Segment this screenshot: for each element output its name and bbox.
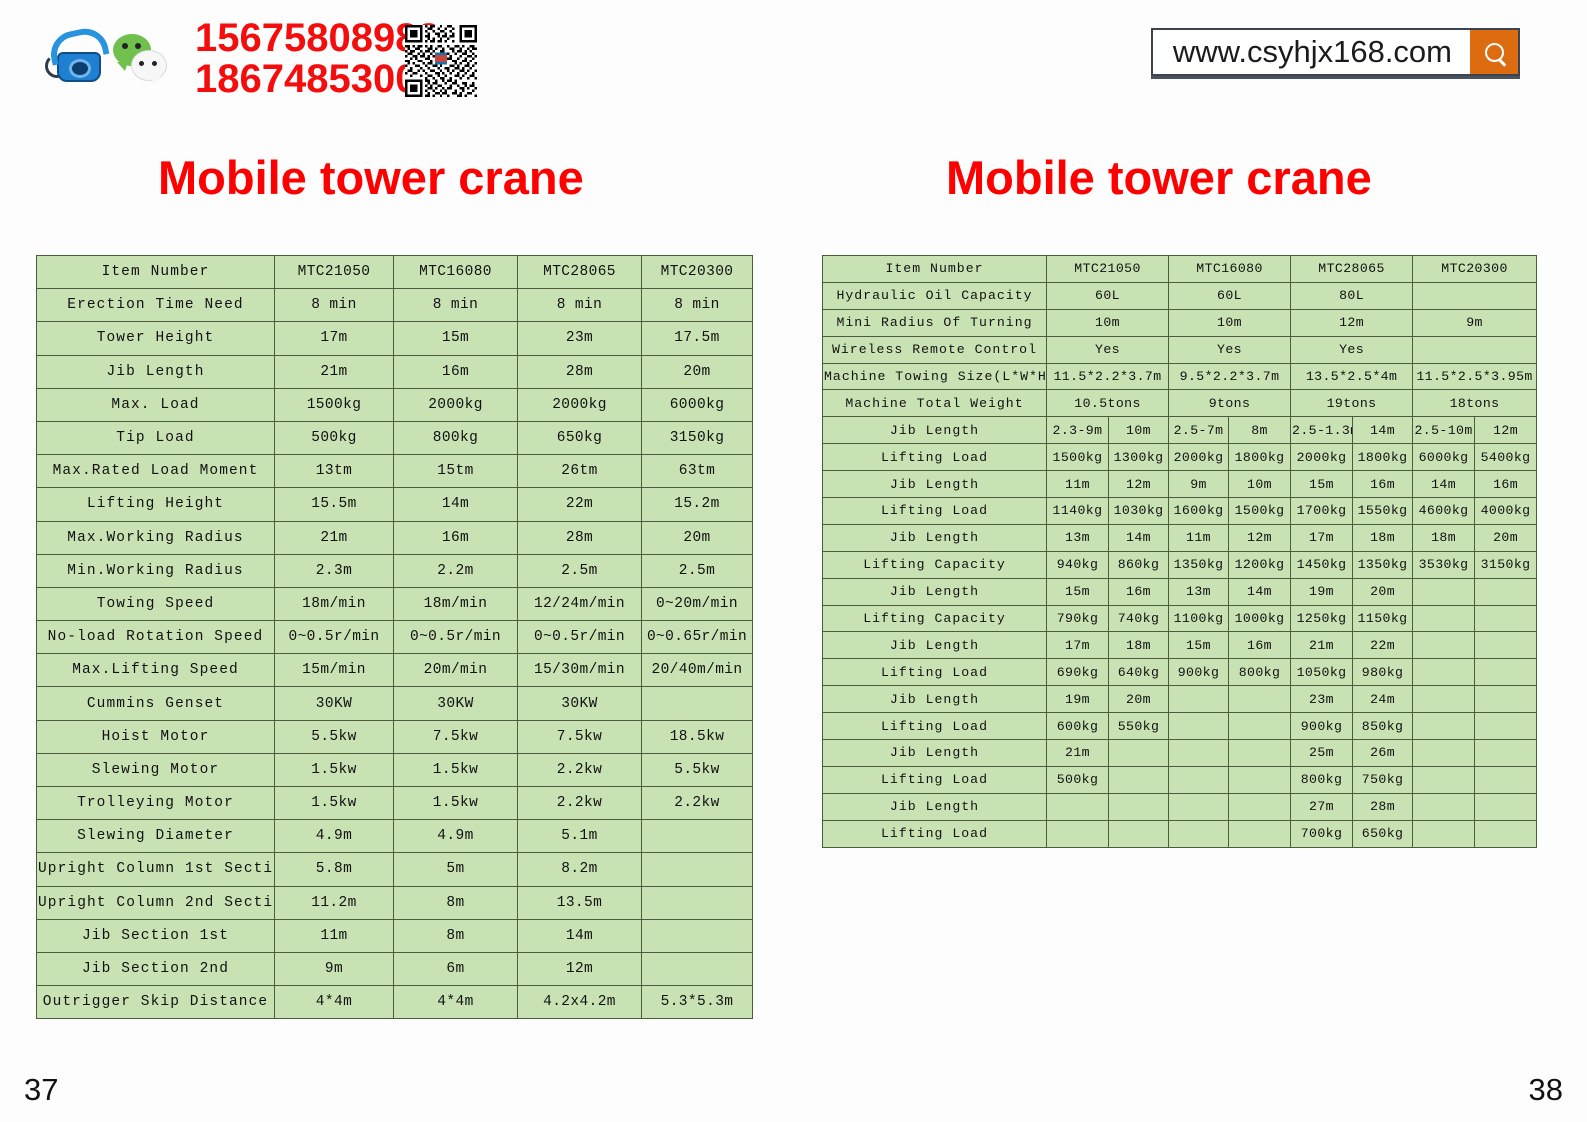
table-cell: 25m <box>1291 740 1353 767</box>
table-cell: 15m <box>1169 632 1229 659</box>
table-cell: 1050kg <box>1291 659 1353 686</box>
table-cell <box>1109 793 1169 820</box>
table-row: Jib Section 2nd9m6m12m <box>37 952 753 985</box>
table-cell: 23m <box>518 322 642 355</box>
table-cell: 790kg <box>1047 605 1109 632</box>
table-cell: 9.5*2.2*3.7m <box>1169 363 1291 390</box>
table-cell: 6m <box>394 952 518 985</box>
row-label: Jib Length <box>823 471 1047 498</box>
table-cell <box>1413 336 1537 363</box>
page-title-left: Mobile tower crane <box>158 150 584 205</box>
table-cell <box>1169 713 1229 740</box>
table-cell: 17.5m <box>642 322 753 355</box>
row-label: Jib Length <box>823 740 1047 767</box>
table-cell: 24m <box>1353 686 1413 713</box>
table-cell: 2.2kw <box>518 753 642 786</box>
table-cell: 19m <box>1047 686 1109 713</box>
table-cell: 13.5*2.5*4m <box>1291 363 1413 390</box>
table-cell: 1030kg <box>1109 498 1169 525</box>
table-row: Max. Load1500kg2000kg2000kg6000kg <box>37 388 753 421</box>
row-label: Tip Load <box>37 421 275 454</box>
table-cell: 4600kg <box>1413 498 1475 525</box>
table-cell: 750kg <box>1353 766 1413 793</box>
row-label: Jib Length <box>823 793 1047 820</box>
table-cell: 2.5-7m <box>1169 417 1229 444</box>
table-cell: 800kg <box>1291 766 1353 793</box>
table-cell <box>642 853 753 886</box>
table-cell <box>1109 766 1169 793</box>
table-cell: 18tons <box>1413 390 1537 417</box>
table-cell <box>1047 793 1109 820</box>
table-cell: 19tons <box>1291 390 1413 417</box>
table-cell: 3150kg <box>1475 551 1537 578</box>
table-cell: 12m <box>1229 524 1291 551</box>
table-cell: 5.5kw <box>642 753 753 786</box>
table-cell: 15m <box>394 322 518 355</box>
row-label: Slewing Motor <box>37 753 275 786</box>
page-number-left: 37 <box>24 1072 58 1108</box>
row-label: Hoist Motor <box>37 720 275 753</box>
row-label: Upright Column 1st Section <box>37 853 275 886</box>
table-cell <box>1229 766 1291 793</box>
table-cell: 14m <box>1109 524 1169 551</box>
row-label: Lifting Capacity <box>823 551 1047 578</box>
table-cell: 8 min <box>275 289 394 322</box>
table-cell: 1500kg <box>275 388 394 421</box>
row-label: Jib Length <box>823 686 1047 713</box>
row-label: Mini Radius Of Turning <box>823 309 1047 336</box>
table-cell: 15.2m <box>642 488 753 521</box>
table-cell: 16m <box>1229 632 1291 659</box>
table-row: Lifting Load1140kg1030kg1600kg1500kg1700… <box>823 498 1537 525</box>
table-cell: 9m <box>275 952 394 985</box>
table-cell: 0~0.5r/min <box>275 621 394 654</box>
search-button[interactable] <box>1470 30 1518 74</box>
table-cell: 14m <box>394 488 518 521</box>
row-label: Upright Column 2nd Section <box>37 886 275 919</box>
table-cell: 9m <box>1413 309 1537 336</box>
table-cell <box>1475 766 1537 793</box>
phone-number-1: 15675808988 <box>195 18 440 59</box>
table-cell: 15/30m/min <box>518 654 642 687</box>
table-cell: 10m <box>1169 309 1291 336</box>
table-cell: 10.5tons <box>1047 390 1169 417</box>
row-label: Hydraulic Oil Capacity <box>823 282 1047 309</box>
table-cell: 20m/min <box>394 654 518 687</box>
website-url-text: www.csyhjx168.com <box>1153 30 1470 74</box>
row-label: Tower Height <box>37 322 275 355</box>
table-cell: 18m <box>1413 524 1475 551</box>
wechat-icon <box>113 30 171 88</box>
qr-code-icon <box>405 25 477 97</box>
table-row: Lifting Load600kg550kg900kg850kg <box>823 713 1537 740</box>
table-cell <box>1475 659 1537 686</box>
table-cell: 10m <box>1109 417 1169 444</box>
table-cell: 8 min <box>642 289 753 322</box>
table-row: Max.Lifting Speed15m/min20m/min15/30m/mi… <box>37 654 753 687</box>
table-cell: 11.2m <box>275 886 394 919</box>
table-cell: 6000kg <box>1413 444 1475 471</box>
table-cell: 5.3*5.3m <box>642 986 753 1019</box>
table-cell: 690kg <box>1047 659 1109 686</box>
table-cell: 12m <box>518 952 642 985</box>
table-cell: 980kg <box>1353 659 1413 686</box>
table-cell: Yes <box>1169 336 1291 363</box>
table-row: Jib Length17m18m15m16m21m22m <box>823 632 1537 659</box>
table-cell: 3530kg <box>1413 551 1475 578</box>
table-cell: 500kg <box>1047 766 1109 793</box>
table-row: Jib Length19m20m23m24m <box>823 686 1537 713</box>
table-cell: 2.3-9m <box>1047 417 1109 444</box>
column-header: MTC21050 <box>1047 256 1169 283</box>
search-icon <box>1485 43 1504 62</box>
column-header: MTC21050 <box>275 256 394 289</box>
table-cell: 80L <box>1291 282 1413 309</box>
table-row: Slewing Diameter4.9m4.9m5.1m <box>37 820 753 853</box>
column-header: MTC16080 <box>394 256 518 289</box>
table-cell: 650kg <box>518 421 642 454</box>
column-header: MTC20300 <box>642 256 753 289</box>
column-header: MTC16080 <box>1169 256 1291 283</box>
table-row: Lifting Load1500kg1300kg2000kg1800kg2000… <box>823 444 1537 471</box>
table-cell: 20m <box>1475 524 1537 551</box>
table-row: Tip Load500kg800kg650kg3150kg <box>37 421 753 454</box>
table-cell: 16m <box>1353 471 1413 498</box>
table-cell: 5.5kw <box>275 720 394 753</box>
table-cell <box>1413 632 1475 659</box>
table-row: Jib Section 1st11m8m14m <box>37 919 753 952</box>
table-cell: 2.5-10m <box>1413 417 1475 444</box>
table-cell: 4.9m <box>394 820 518 853</box>
table-row: Cummins Genset30KW30KW30KW <box>37 687 753 720</box>
table-cell: 6000kg <box>642 388 753 421</box>
table-cell: 1250kg <box>1291 605 1353 632</box>
column-header: MTC28065 <box>1291 256 1413 283</box>
table-row: Erection Time Need8 min8 min8 min8 min <box>37 289 753 322</box>
table-cell: 1600kg <box>1169 498 1229 525</box>
table-cell <box>1413 686 1475 713</box>
row-label: Jib Length <box>37 355 275 388</box>
table-cell: 650kg <box>1353 820 1413 847</box>
table-cell: 2.2m <box>394 554 518 587</box>
row-label: Cummins Genset <box>37 687 275 720</box>
table-cell <box>642 820 753 853</box>
table-cell: 550kg <box>1109 713 1169 740</box>
table-cell: 28m <box>518 521 642 554</box>
table-cell: Yes <box>1291 336 1413 363</box>
table-row: Slewing Motor1.5kw1.5kw2.2kw5.5kw <box>37 753 753 786</box>
table-cell: 1800kg <box>1353 444 1413 471</box>
table-cell: 14m <box>518 919 642 952</box>
table-cell <box>642 919 753 952</box>
table-cell: 500kg <box>275 421 394 454</box>
table-cell: 1140kg <box>1047 498 1109 525</box>
table-cell: 8m <box>394 919 518 952</box>
table-cell: 1000kg <box>1229 605 1291 632</box>
column-header: MTC28065 <box>518 256 642 289</box>
table-cell: 13m <box>1169 578 1229 605</box>
table-cell: 1100kg <box>1169 605 1229 632</box>
table-row: Hydraulic Oil Capacity60L60L80L <box>823 282 1537 309</box>
table-cell: 18.5kw <box>642 720 753 753</box>
row-label: Jib Length <box>823 632 1047 659</box>
table-cell: 1150kg <box>1353 605 1413 632</box>
table-cell <box>1229 713 1291 740</box>
table-cell: 1700kg <box>1291 498 1353 525</box>
table-row: Mini Radius Of Turning10m10m12m9m <box>823 309 1537 336</box>
website-search-bar[interactable]: www.csyhjx168.com <box>1151 28 1520 76</box>
table-row: Lifting Load700kg650kg <box>823 820 1537 847</box>
table-cell <box>1475 740 1537 767</box>
table-cell: 0~0.5r/min <box>518 621 642 654</box>
table-cell: 13.5m <box>518 886 642 919</box>
table-row: Lifting Load690kg640kg900kg800kg1050kg98… <box>823 659 1537 686</box>
table-cell: 8.2m <box>518 853 642 886</box>
table-cell: 1350kg <box>1169 551 1229 578</box>
table-row: Wireless Remote ControlYesYesYes <box>823 336 1537 363</box>
table-row: Machine Towing Size(L*W*H)11.5*2.2*3.7m9… <box>823 363 1537 390</box>
table-cell <box>1229 686 1291 713</box>
table-cell: 7.5kw <box>394 720 518 753</box>
table-cell: Yes <box>1047 336 1169 363</box>
row-label: Lifting Capacity <box>823 605 1047 632</box>
table-cell <box>1169 766 1229 793</box>
table-cell <box>1413 605 1475 632</box>
table-row: Lifting Capacity940kg860kg1350kg1200kg14… <box>823 551 1537 578</box>
table-cell: 18m <box>1109 632 1169 659</box>
table-cell <box>1475 605 1537 632</box>
table-cell: 14m <box>1229 578 1291 605</box>
table-cell: 5.1m <box>518 820 642 853</box>
table-row: Tower Height17m15m23m17.5m <box>37 322 753 355</box>
row-label: Item Number <box>823 256 1047 283</box>
table-cell: 19m <box>1291 578 1353 605</box>
table-cell: 1300kg <box>1109 444 1169 471</box>
table-cell <box>1229 820 1291 847</box>
table-cell: 10m <box>1047 309 1169 336</box>
table-cell: 20m <box>1109 686 1169 713</box>
table-cell: 0~20m/min <box>642 587 753 620</box>
table-cell: 11.5*2.5*3.95m <box>1413 363 1537 390</box>
table-cell: 28m <box>1353 793 1413 820</box>
row-label: Wireless Remote Control <box>823 336 1047 363</box>
table-cell: 5400kg <box>1475 444 1537 471</box>
table-cell: 30KW <box>275 687 394 720</box>
row-label: Min.Working Radius <box>37 554 275 587</box>
table-row: Jib Length21m25m26m <box>823 740 1537 767</box>
table-row: Max.Working Radius21m16m28m20m <box>37 521 753 554</box>
table-cell: 4000kg <box>1475 498 1537 525</box>
table-cell: 14m <box>1413 471 1475 498</box>
table-cell: 4.2x4.2m <box>518 986 642 1019</box>
table-cell <box>1169 820 1229 847</box>
table-cell: 20m <box>642 521 753 554</box>
row-label: Lifting Height <box>37 488 275 521</box>
table-cell: 23m <box>1291 686 1353 713</box>
table-cell: 640kg <box>1109 659 1169 686</box>
table-cell: 740kg <box>1109 605 1169 632</box>
table-row: Jib Length15m16m13m14m19m20m <box>823 578 1537 605</box>
table-row: Towing Speed18m/min18m/min12/24m/min0~20… <box>37 587 753 620</box>
table-cell: 20/40m/min <box>642 654 753 687</box>
table-cell: 4*4m <box>394 986 518 1019</box>
table-cell: 15m <box>1047 578 1109 605</box>
table-cell <box>1475 686 1537 713</box>
table-cell: 9m <box>1169 471 1229 498</box>
table-cell: 1.5kw <box>275 753 394 786</box>
table-cell: 13tm <box>275 455 394 488</box>
page-number-right: 38 <box>1529 1072 1563 1108</box>
telephone-icon <box>45 28 103 90</box>
table-cell: 13m <box>1047 524 1109 551</box>
row-label: Machine Towing Size(L*W*H) <box>823 363 1047 390</box>
row-label: No-load Rotation Speed <box>37 621 275 654</box>
table-cell: 1450kg <box>1291 551 1353 578</box>
table-cell: 8m <box>394 886 518 919</box>
table-cell: 60L <box>1169 282 1291 309</box>
row-label: Max.Lifting Speed <box>37 654 275 687</box>
table-cell <box>1475 713 1537 740</box>
table-cell: 1.5kw <box>394 753 518 786</box>
table-row: Jib Length27m28m <box>823 793 1537 820</box>
table-row: Lifting Capacity790kg740kg1100kg1000kg12… <box>823 605 1537 632</box>
table-cell <box>1169 740 1229 767</box>
table-cell: 12m <box>1109 471 1169 498</box>
row-label: Max.Rated Load Moment <box>37 455 275 488</box>
table-cell: 16m <box>1475 471 1537 498</box>
row-label: Jib Length <box>823 578 1047 605</box>
table-cell: 15m/min <box>275 654 394 687</box>
table-cell: 2.2kw <box>642 787 753 820</box>
table-cell: 15.5m <box>275 488 394 521</box>
table-cell: 2000kg <box>1169 444 1229 471</box>
table-cell: 2.5-1.3m <box>1291 417 1353 444</box>
table-cell: 800kg <box>1229 659 1291 686</box>
table-cell: 17m <box>1047 632 1109 659</box>
table-cell: 11.5*2.2*3.7m <box>1047 363 1169 390</box>
table-cell: 16m <box>394 355 518 388</box>
table-row: Min.Working Radius2.3m2.2m2.5m2.5m <box>37 554 753 587</box>
row-label: Lifting Load <box>823 444 1047 471</box>
table-cell: 63tm <box>642 455 753 488</box>
table-cell: 2000kg <box>1291 444 1353 471</box>
table-cell <box>642 886 753 919</box>
row-label: Lifting Load <box>823 659 1047 686</box>
page-title-right: Mobile tower crane <box>946 150 1372 205</box>
table-cell <box>1413 766 1475 793</box>
table-cell: 15tm <box>394 455 518 488</box>
row-label: Erection Time Need <box>37 289 275 322</box>
row-label: Machine Total Weight <box>823 390 1047 417</box>
table-cell: 2000kg <box>518 388 642 421</box>
row-label: Lifting Load <box>823 766 1047 793</box>
phone-numbers: 15675808988 18674853006 <box>195 18 440 100</box>
table-cell <box>1413 282 1537 309</box>
table-cell: 20m <box>642 355 753 388</box>
table-cell: 26m <box>1353 740 1413 767</box>
spec-table-right: Item NumberMTC21050MTC16080MTC28065MTC20… <box>822 255 1537 848</box>
table-cell: 600kg <box>1047 713 1109 740</box>
table-cell <box>642 952 753 985</box>
table-row: Item NumberMTC21050MTC16080MTC28065MTC20… <box>37 256 753 289</box>
row-label: Jib Length <box>823 524 1047 551</box>
table-cell <box>1475 632 1537 659</box>
table-cell: 1.5kw <box>394 787 518 820</box>
table-row: Outrigger Skip Distance4*4m4*4m4.2x4.2m5… <box>37 986 753 1019</box>
table-row: Jib Length2.3-9m10m2.5-7m8m2.5-1.3m14m2.… <box>823 417 1537 444</box>
table-cell: 21m <box>275 355 394 388</box>
row-label: Slewing Diameter <box>37 820 275 853</box>
table-cell: 1200kg <box>1229 551 1291 578</box>
table-cell: 700kg <box>1291 820 1353 847</box>
table-cell: 28m <box>518 355 642 388</box>
table-cell: 15m <box>1291 471 1353 498</box>
table-cell: 12m <box>1475 417 1537 444</box>
table-cell: 2000kg <box>394 388 518 421</box>
table-cell: 11m <box>1169 524 1229 551</box>
table-cell: 860kg <box>1109 551 1169 578</box>
table-cell: 2.5m <box>642 554 753 587</box>
table-cell <box>1475 793 1537 820</box>
table-row: Jib Length21m16m28m20m <box>37 355 753 388</box>
table-row: Hoist Motor5.5kw7.5kw7.5kw18.5kw <box>37 720 753 753</box>
table-cell: 1550kg <box>1353 498 1413 525</box>
table-cell: 60L <box>1047 282 1169 309</box>
table-cell: 12/24m/min <box>518 587 642 620</box>
table-cell: 11m <box>275 919 394 952</box>
table-cell <box>1169 793 1229 820</box>
table-row: Machine Total Weight10.5tons9tons19tons1… <box>823 390 1537 417</box>
table-cell: 9tons <box>1169 390 1291 417</box>
table-cell <box>1413 740 1475 767</box>
table-cell: 1.5kw <box>275 787 394 820</box>
spec-table-left: Item NumberMTC21050MTC16080MTC28065MTC20… <box>36 255 753 1019</box>
table-cell: 16m <box>394 521 518 554</box>
table-row: No-load Rotation Speed0~0.5r/min0~0.5r/m… <box>37 621 753 654</box>
row-label: Lifting Load <box>823 498 1047 525</box>
table-cell <box>1229 793 1291 820</box>
page-header: 15675808988 18674853006 <box>0 0 1587 120</box>
table-cell: 26tm <box>518 455 642 488</box>
table-cell <box>1413 820 1475 847</box>
table-row: Upright Column 1st Section5.8m5m8.2m <box>37 853 753 886</box>
table-row: Item NumberMTC21050MTC16080MTC28065MTC20… <box>823 256 1537 283</box>
table-cell: 16m <box>1109 578 1169 605</box>
table-cell <box>1413 659 1475 686</box>
table-row: Trolleying Motor1.5kw1.5kw2.2kw2.2kw <box>37 787 753 820</box>
row-label: Max.Working Radius <box>37 521 275 554</box>
table-cell: 1800kg <box>1229 444 1291 471</box>
table-cell <box>1109 820 1169 847</box>
row-label: Jib Section 1st <box>37 919 275 952</box>
row-label: Jib Section 2nd <box>37 952 275 985</box>
table-cell: 30KW <box>518 687 642 720</box>
table-cell: 10m <box>1229 471 1291 498</box>
table-cell: 11m <box>1047 471 1109 498</box>
table-cell: 21m <box>275 521 394 554</box>
table-cell: 850kg <box>1353 713 1413 740</box>
table-cell: 1500kg <box>1229 498 1291 525</box>
table-cell: 20m <box>1353 578 1413 605</box>
table-cell: 17m <box>275 322 394 355</box>
table-cell: 22m <box>518 488 642 521</box>
table-cell <box>1413 713 1475 740</box>
table-cell <box>1109 740 1169 767</box>
table-cell <box>1475 578 1537 605</box>
table-cell: 800kg <box>394 421 518 454</box>
table-cell: 18m <box>1353 524 1413 551</box>
table-row: Lifting Load500kg800kg750kg <box>823 766 1537 793</box>
